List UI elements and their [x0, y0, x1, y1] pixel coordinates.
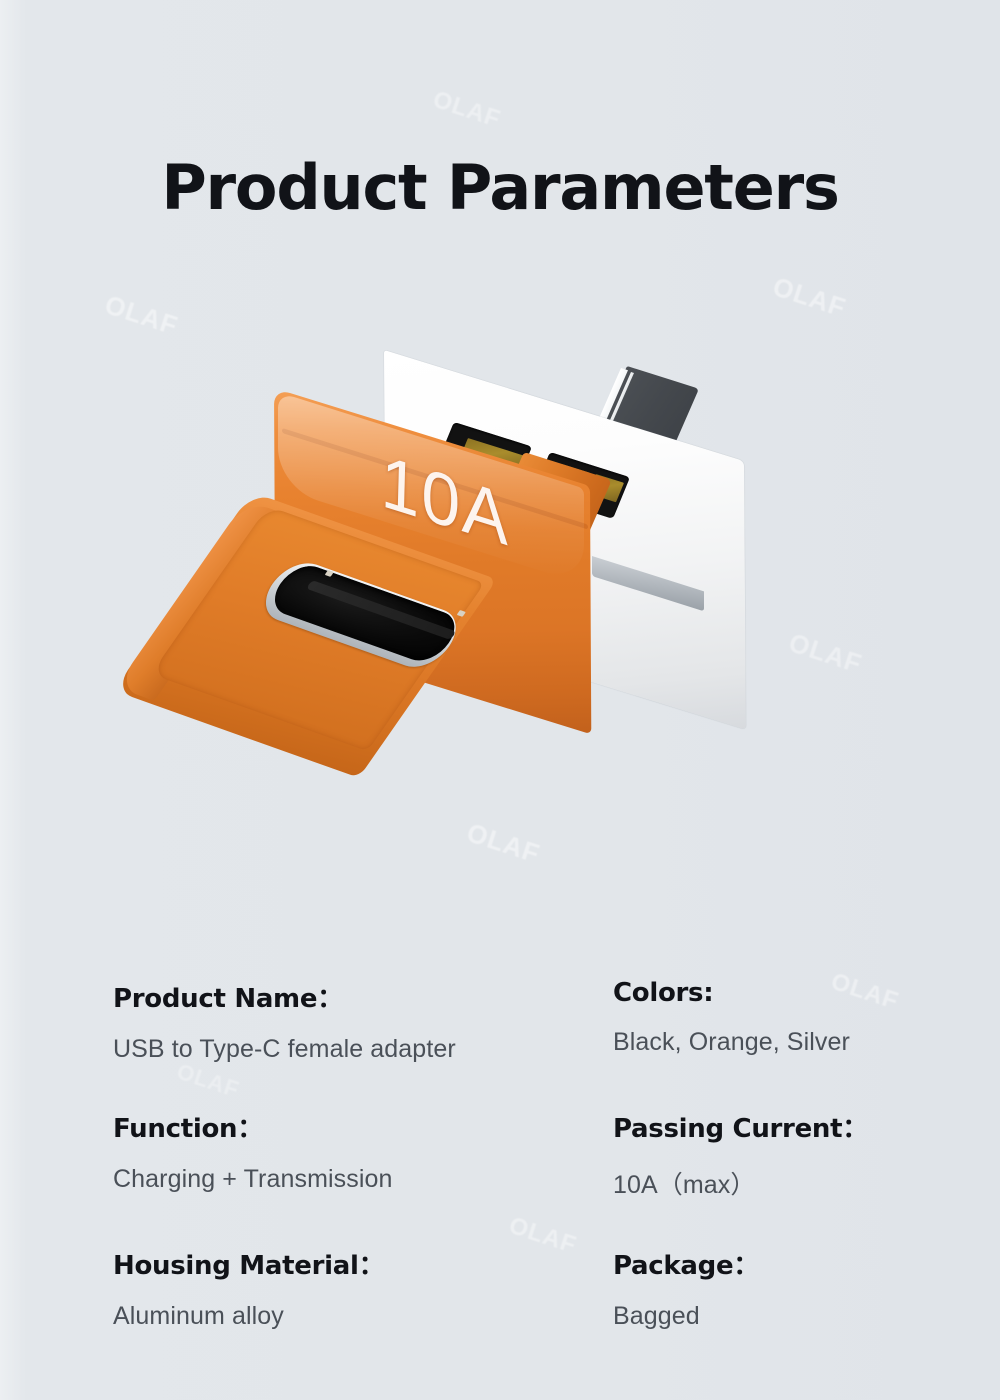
spec-item-colors: Colors: Black, Orange, Silver [613, 978, 913, 1064]
spec-item-package: Package： Bagged [613, 1245, 913, 1331]
spec-item-housing-material: Housing Material： Aluminum alloy [113, 1245, 613, 1331]
spec-value: USB to Type-C female adapter [113, 1035, 613, 1064]
spec-item-passing-current: Passing Current： 10A（max） [613, 1108, 913, 1201]
spec-label: Package： [613, 1245, 913, 1282]
specifications-grid: Product Name： USB to Type-C female adapt… [113, 978, 913, 1375]
spec-label: Function： [113, 1108, 613, 1145]
spec-item-product-name: Product Name： USB to Type-C female adapt… [113, 978, 613, 1064]
spec-value: Charging + Transmission [113, 1165, 613, 1194]
spec-value: 10A（max） [613, 1165, 913, 1201]
page-title: Product Parameters [0, 151, 1000, 224]
spec-label: Colors: [613, 978, 913, 1008]
spec-label: Product Name： [113, 978, 613, 1015]
product-image-stage: 10A [0, 300, 1000, 900]
spec-value: Aluminum alloy [113, 1302, 613, 1331]
spec-label: Housing Material： [113, 1245, 613, 1282]
spec-value: Bagged [613, 1302, 913, 1331]
spec-item-function: Function： Charging + Transmission [113, 1108, 613, 1201]
product-photo-usb-adapter: 10A [232, 342, 792, 832]
spec-label: Passing Current： [613, 1108, 913, 1145]
spec-value: Black, Orange, Silver [613, 1028, 913, 1057]
